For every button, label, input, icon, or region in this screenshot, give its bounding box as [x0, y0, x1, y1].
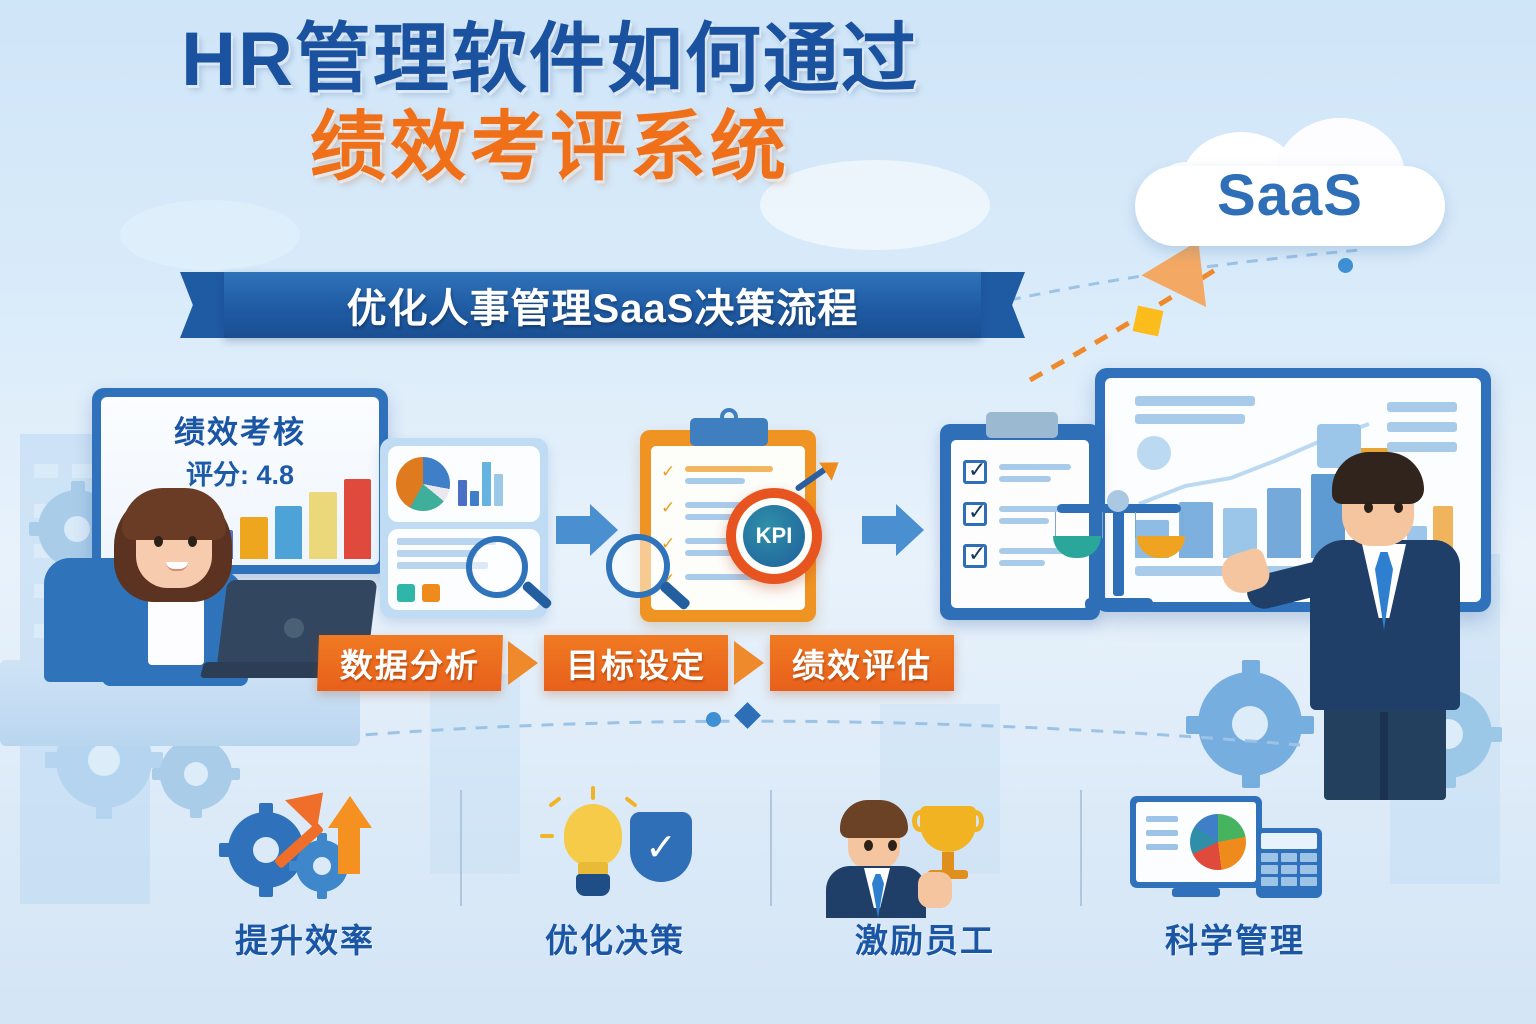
text-line	[999, 464, 1071, 470]
person-eye	[154, 536, 163, 547]
checkbox-checked	[963, 544, 987, 568]
bg-cloud	[120, 200, 300, 270]
kpi-clipboard: ✓ ✓ ✓ ✓ KPI	[640, 430, 816, 622]
pie-chart-icon	[1190, 814, 1246, 870]
checkbox-checked	[963, 460, 987, 484]
feature-item-management[interactable]: 科学管理	[1080, 782, 1390, 978]
manager-illustration	[1290, 440, 1490, 800]
scale-strings	[1055, 512, 1103, 538]
gears-up-arrow-icon	[150, 782, 460, 902]
magnifier-icon	[466, 536, 528, 598]
blue-dot-decoration	[706, 712, 721, 727]
legend-swatch-teal	[397, 584, 415, 602]
ribbon-band: 优化人事管理SaaS决策流程	[224, 272, 981, 338]
feature-highlights: 提升效率 ✓ 优化决策	[150, 782, 1390, 978]
ribbon-tail-right	[979, 272, 1025, 338]
feature-label-3: 激励员工	[855, 914, 995, 962]
dashboard-side-bar	[1387, 422, 1457, 432]
lightbulb-shield-check-icon: ✓	[460, 782, 770, 902]
clipboard-ring	[720, 408, 738, 426]
title-line-2: 绩效考评系统	[0, 106, 1100, 190]
kpi-target-icon: KPI	[726, 488, 822, 584]
blue-dot-decoration	[734, 702, 761, 729]
step-arrow-1-icon	[508, 641, 538, 685]
bar-chart-icon	[458, 462, 503, 506]
up-arrow-icon	[328, 796, 372, 828]
monitor-title: 绩效考核	[101, 407, 379, 452]
dashboard-header-bar	[1135, 396, 1255, 406]
person-hair	[1332, 452, 1424, 504]
feature-item-efficiency[interactable]: 提升效率	[150, 782, 460, 978]
monitor-icon	[1130, 796, 1262, 888]
flow-arrow-2-icon	[862, 504, 924, 556]
monitor-piechart-calculator-icon	[1080, 782, 1390, 902]
checkmark-icon: ✓	[661, 498, 675, 518]
blue-dot-decoration	[1338, 258, 1353, 273]
gear-decoration-icon	[1198, 672, 1302, 776]
text-line	[685, 478, 745, 484]
dashboard-side-bar	[1387, 402, 1457, 412]
laptop-logo	[284, 618, 304, 638]
scale-knob	[1107, 490, 1129, 512]
scale-pan-left	[1053, 536, 1101, 558]
feature-label-2: 优化决策	[545, 914, 685, 962]
process-step-3[interactable]: 绩效评估	[770, 635, 954, 691]
saas-cloud-badge: SaaS	[1135, 118, 1445, 246]
person-eye	[1364, 502, 1373, 513]
text-line	[999, 476, 1051, 482]
subtitle-banner: 优化人事管理SaaS决策流程	[180, 272, 1025, 338]
person-eye	[1394, 502, 1403, 513]
saas-label: SaaS	[1135, 118, 1445, 246]
flow-arrow-1-icon	[556, 504, 618, 556]
legend-swatch-orange	[422, 584, 440, 602]
kpi-label: KPI	[743, 505, 805, 567]
shield-check-icon: ✓	[630, 812, 692, 882]
step-1-label: 数据分析	[339, 639, 481, 687]
page-title: HR管理软件如何通过 绩效考评系统	[0, 20, 1100, 189]
scale-base	[1085, 598, 1153, 610]
text-line	[999, 518, 1049, 524]
ribbon-tail-left	[180, 272, 226, 338]
step-3-label: 绩效评估	[792, 639, 932, 687]
data-analysis-card	[380, 438, 548, 618]
calculator-icon	[1256, 828, 1322, 898]
employee-trophy-icon	[770, 782, 1080, 902]
dart-fin-icon	[819, 453, 845, 480]
scale-strings	[1135, 512, 1183, 538]
person-hair-front	[122, 488, 226, 540]
feature-label-4: 科学管理	[1165, 914, 1305, 962]
text-line	[685, 466, 773, 472]
trophy-icon	[920, 806, 976, 852]
pie-chart-icon	[396, 457, 450, 511]
calculator-keys	[1261, 853, 1317, 886]
person-eye	[188, 536, 197, 547]
yellow-diamond-decoration	[1133, 306, 1164, 337]
clipboard-clip	[986, 412, 1058, 438]
step-2-label: 目标设定	[566, 639, 706, 687]
checkbox-checked	[963, 502, 987, 526]
title-line-1: HR管理软件如何通过	[0, 20, 1100, 100]
feature-item-decision[interactable]: ✓ 优化决策	[460, 782, 770, 978]
target-ring-inner: KPI	[736, 498, 812, 574]
checkmark-icon: ✓	[661, 462, 675, 482]
infographic-canvas: HR管理软件如何通过 绩效考评系统 优化人事管理SaaS决策流程 SaaS 绩效…	[0, 0, 1536, 1024]
step-arrow-2-icon	[734, 641, 764, 685]
calculator-display	[1261, 833, 1317, 849]
text-line	[999, 560, 1045, 566]
process-step-2[interactable]: 目标设定	[544, 635, 728, 691]
trophy-stem	[942, 852, 954, 870]
analysis-charts	[388, 446, 540, 522]
scale-pan-right	[1137, 536, 1185, 558]
process-step-1[interactable]: 数据分析	[317, 635, 503, 691]
subtitle-text: 优化人事管理SaaS决策流程	[347, 276, 859, 334]
monitor-screen	[1136, 802, 1256, 882]
balance-scale-icon	[1055, 478, 1183, 610]
feature-label-1: 提升效率	[235, 914, 375, 962]
feature-item-motivation[interactable]: 激励员工	[770, 782, 1080, 978]
process-flow-steps: 数据分析 目标设定 绩效评估	[318, 634, 1178, 692]
